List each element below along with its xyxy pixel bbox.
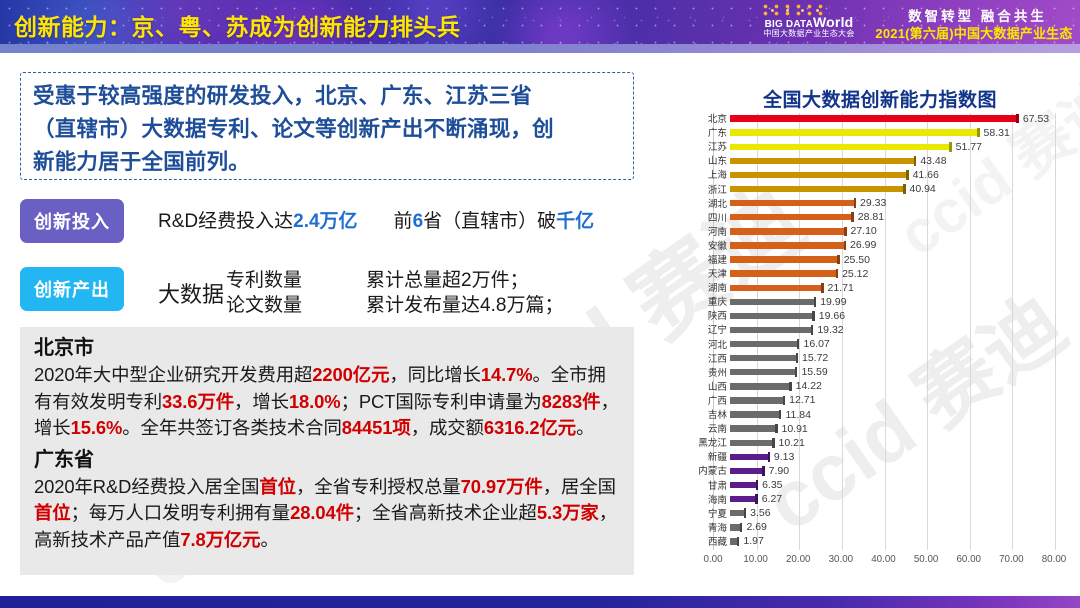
chart-category-label: 湖南 [690,284,730,294]
chart-value-label: 19.66 [819,310,845,322]
body-text-run: ；全省高新技术企业超 [354,502,537,523]
chart-value-label: 27.10 [851,225,877,237]
chart-x-axis: 0.0010.0020.0030.0040.0050.0060.0070.008… [713,550,1054,570]
chart-bar [730,369,796,375]
chart-bar [730,425,777,431]
chart-bar [730,411,780,417]
output-bigdata-label: 大数据 [158,277,224,309]
chart-x-tick-label: 30.00 [829,554,854,565]
innovation-index-bar-chart: 北京67.53广东58.31江苏51.77山东43.48上海41.66浙江40.… [690,113,1075,568]
chart-category-label: 辽宁 [690,326,730,336]
chart-x-tick-label: 20.00 [786,554,811,565]
chart-value-label: 7.90 [769,465,789,477]
chart-bar [730,186,905,192]
chart-value-label: 9.13 [774,451,794,463]
chart-category-label: 新疆 [690,453,730,463]
province-detail-box: 北京市 2020年大中型企业研究开发费用超2200亿元，同比增长14.7%。全市… [20,327,634,575]
chart-category-label: 内蒙古 [690,467,730,477]
body-text-run: 。 [576,417,594,438]
chart-category-label: 西藏 [690,538,730,548]
body-text-run: ，全省专利授权总量 [296,476,461,497]
chart-bar-rows: 北京67.53广东58.31江苏51.77山东43.48上海41.66浙江40.… [690,113,1075,550]
body-text-run: 2020年R&D经费投入居全国 [34,476,259,497]
chart-bar [730,341,798,347]
badge-innovation-output: 创新产出 [20,267,124,311]
output-metric-patents: 专利数量 [226,268,302,293]
investment-stats-line: R&D经费投入达2.4万亿前6省（直辖市）破千亿 [158,206,594,233]
chart-bar [730,454,769,460]
page-title: 创新能力：京、粤、苏成为创新能力排头兵 [14,8,461,42]
chart-value-label: 11.84 [785,409,811,421]
highlight-value: 6316.2亿元 [484,417,576,438]
highlight-value: 70.97万件 [461,476,543,497]
chart-bar [730,524,741,530]
chart-value-label: 67.53 [1023,113,1049,125]
chart-value-label: 15.59 [801,366,827,378]
investment-part2-count: 6 [413,211,424,232]
chart-category-label: 山西 [690,383,730,393]
chart-category-label: 湖北 [690,200,730,210]
chart-value-label: 12.71 [789,394,815,406]
body-text-run: ，成交额 [411,417,484,438]
chart-category-label: 陕西 [690,312,730,322]
chart-category-label: 广西 [690,397,730,407]
bigdata-world-logo: BIG DATAWorld 中国大数据产业生态大会 [750,3,868,43]
chart-value-label: 2.69 [746,521,766,533]
page-footer-band [0,596,1080,608]
body-text-run: ；PCT国际专利申请量为 [341,391,542,412]
body-text-run: 2020年大中型企业研究开发费用超 [34,364,312,385]
guangdong-heading: 广东省 [34,447,622,473]
chart-bar [730,144,951,150]
chart-category-label: 河北 [690,341,730,351]
chart-category-label: 重庆 [690,298,730,308]
chart-value-label: 1.97 [743,535,763,547]
callout-line-1: 受惠于较高强度的研发投入，北京、广东、江苏三省 [33,80,621,113]
chart-category-label: 广东 [690,129,730,139]
chart-x-tick-label: 70.00 [999,554,1024,565]
chart-category-label: 青海 [690,524,730,534]
chart-category-label: 海南 [690,496,730,506]
output-metric-values: 累计总量超2万件； 累计发布量达4.8万篇； [366,268,563,318]
chart-value-label: 26.99 [850,239,876,251]
logo-subtitle: 中国大数据产业生态大会 [750,30,868,38]
output-value-papers: 累计发布量达4.8万篇； [366,293,563,318]
output-value-patents: 累计总量超2万件； [366,268,563,293]
chart-value-label: 21.71 [828,282,854,294]
chart-category-label: 宁夏 [690,510,730,520]
highlight-value: 18.0% [289,391,341,412]
chart-bar [730,242,845,248]
chart-category-label: 贵州 [690,369,730,379]
header-underband-decoration [0,44,1080,53]
chart-value-label: 10.91 [782,423,808,435]
highlight-value: 15.6% [71,417,123,438]
chart-bar [730,468,764,474]
chart-bar [730,397,784,403]
chart-category-label: 山东 [690,157,730,167]
chart-x-tick-label: 80.00 [1042,554,1067,565]
chart-bar [730,214,853,220]
chart-bar [730,355,797,361]
investment-part2-prefix: 前 [394,211,413,232]
output-metric-papers: 论文数量 [226,293,302,318]
chart-value-label: 43.48 [920,155,946,167]
chart-category-label: 江苏 [690,143,730,153]
investment-part2-middle: 省（直辖市）破 [423,211,556,232]
chart-bar [730,200,855,206]
beijing-heading: 北京市 [34,335,622,361]
chart-bar [730,510,745,516]
output-metric-names: 专利数量 论文数量 [226,268,302,318]
chart-value-label: 28.81 [858,211,884,223]
chart-value-label: 29.33 [860,197,886,209]
chart-category-label: 河南 [690,228,730,238]
chart-value-label: 41.66 [913,169,939,181]
chart-bar [730,270,837,276]
chart-x-tick-label: 10.00 [743,554,768,565]
header-slogan-primary: 数智转型 融合共生 [880,5,1075,25]
highlight-value: 首位 [34,502,71,523]
chart-bar [730,129,979,135]
chart-category-label: 福建 [690,256,730,266]
chart-bar [730,256,839,262]
investment-part2-value: 千亿 [556,211,594,232]
chart-category-label: 黑龙江 [690,439,730,449]
highlight-value: 首位 [259,476,296,497]
highlight-value: 33.6万件 [162,391,234,412]
header-slogan-secondary: 2021(第六届)中国大数据产业生态大会 [870,23,1078,44]
chart-value-label: 10.21 [779,437,805,449]
chart-bar [730,313,814,319]
logo-world-text: World [813,14,853,30]
chart-category-label: 北京 [690,115,730,125]
chart-value-label: 6.35 [762,479,782,491]
highlight-value: 5.3万家 [537,502,599,523]
output-stats-group: 大数据 专利数量 论文数量 累计总量超2万件； 累计发布量达4.8万篇； [158,268,563,318]
chart-value-label: 51.77 [956,141,982,153]
chart-value-label: 25.12 [842,268,868,280]
chart-bar [730,115,1018,121]
chart-bar [730,383,791,389]
chart-value-label: 25.50 [844,254,870,266]
chart-value-label: 40.94 [910,183,936,195]
chart-category-label: 安徽 [690,242,730,252]
chart-x-tick-label: 60.00 [956,554,981,565]
highlight-value: 2200亿元 [312,364,389,385]
body-text-run: ，居全国 [543,476,616,497]
chart-category-label: 上海 [690,171,730,181]
guangdong-body-text: 2020年R&D经费投入居全国首位，全省专利授权总量70.97万件，居全国首位；… [34,474,622,554]
highlight-value: 8283件 [542,391,601,412]
chart-bar [730,228,846,234]
body-text-run: ；每万人口发明专利拥有量 [71,502,291,523]
investment-part1-value: 2.4万亿 [293,211,357,232]
chart-category-label: 吉林 [690,411,730,421]
highlight-value: 14.7% [481,364,533,385]
callout-line-2: （直辖市）大数据专利、论文等创新产出不断涌现，创 [33,113,621,146]
chart-x-tick-label: 0.00 [703,554,722,565]
chart-value-label: 3.56 [750,507,770,519]
highlight-value: 28.04件 [290,502,354,523]
chart-bar [730,482,757,488]
investment-part1-prefix: R&D经费投入达 [158,211,293,232]
chart-x-tick-label: 40.00 [871,554,896,565]
page-header: 创新能力：京、粤、苏成为创新能力排头兵 BIG DATAWorld 中国大数据产… [0,0,1080,44]
chart-bar [730,172,908,178]
badge-innovation-investment: 创新投入 [20,199,124,243]
chart-category-label: 江西 [690,355,730,365]
chart-category-label: 甘肃 [690,482,730,492]
chart-bar [730,285,823,291]
chart-value-label: 19.32 [817,324,843,336]
chart-bar [730,496,757,502]
highlight-value: 84451项 [342,417,411,438]
body-text-run: ，同比增长 [389,364,480,385]
chart-value-label: 15.72 [802,352,828,364]
chart-bar [730,158,915,164]
callout-line-3: 新能力居于全国前列。 [33,146,621,179]
chart-value-label: 14.22 [796,380,822,392]
highlight-value: 7.8万亿元 [180,529,260,550]
summary-callout-box: 受惠于较高强度的研发投入，北京、广东、江苏三省 （直辖市）大数据专利、论文等创新… [20,72,634,180]
body-text-run: ，增长 [234,391,289,412]
beijing-body-text: 2020年大中型企业研究开发费用超2200亿元，同比增长14.7%。全市拥有有效… [34,362,622,442]
chart-bar [730,538,738,544]
chart-bar [730,327,812,333]
chart-title: 全国大数据创新能力指数图 [690,85,1070,112]
chart-value-label: 58.31 [984,127,1010,139]
chart-bar [730,440,774,446]
chart-category-label: 四川 [690,214,730,224]
chart-category-label: 浙江 [690,186,730,196]
chart-bar-row: 西藏1.97 [690,536,1075,550]
chart-value-label: 19.99 [820,296,846,308]
chart-value-label: 16.07 [803,338,829,350]
body-text-run: 。 [260,529,278,550]
chart-x-tick-label: 50.00 [914,554,939,565]
chart-bar [730,299,815,305]
chart-bar-track: 1.97 [730,534,1075,551]
chart-category-label: 天津 [690,270,730,280]
logo-main-text: BIG DATAWorld [750,15,868,30]
chart-category-label: 云南 [690,425,730,435]
body-text-run: 。全年共签订各类技术合同 [122,417,342,438]
chart-value-label: 6.27 [762,493,782,505]
